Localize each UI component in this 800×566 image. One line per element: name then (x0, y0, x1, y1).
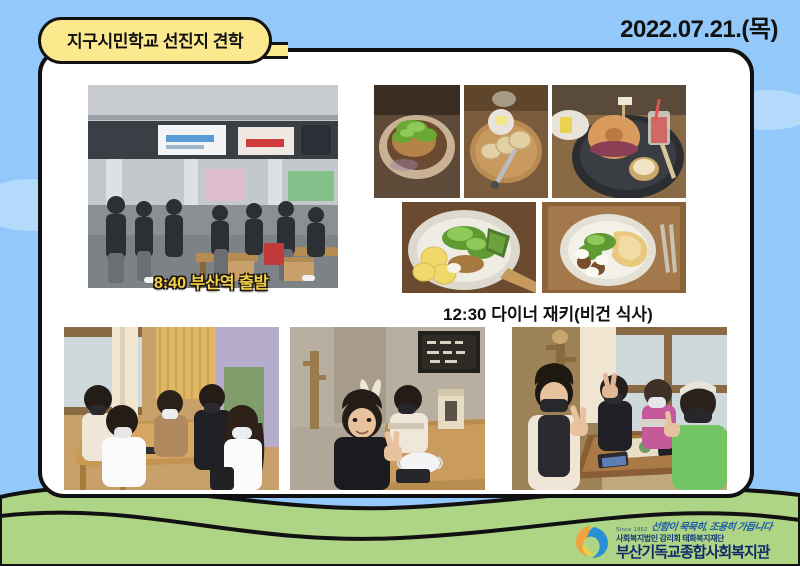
photo-group-3-image (512, 327, 727, 490)
logo-center-name: 부산기독교종합사회복지관 (616, 545, 772, 560)
title-badge: 지구시민학교 선진지 견학 (38, 17, 272, 64)
photo-group-1 (64, 327, 279, 490)
photo-food-5-image (542, 202, 686, 293)
photo-group-2-image (290, 327, 485, 490)
logo-since: Since 1952 (616, 528, 648, 534)
logo-foundation: 사회복지법인 감리회 태화복지재단 (616, 535, 772, 543)
slide-date: 2022.07.21.(목) (620, 9, 778, 44)
logo-slogan: 선함이 묵묵히, 조용히 가듭니다 (651, 523, 773, 533)
photo-food-3-image (552, 85, 686, 198)
photo-food-1-image (374, 85, 460, 198)
photo-food-3 (552, 85, 686, 198)
caption-lunch: 12:30 다이너 재키(비건 식사) (443, 300, 653, 325)
photo-food-1 (374, 85, 460, 198)
photo-food-2-image (464, 85, 548, 198)
photo-busan-station-image (88, 85, 338, 288)
organization-logo: Since 1952 선함이 묵묵히, 조용히 가듭니다 사회복지법인 감리회 … (574, 523, 772, 560)
swirl-logo-icon (574, 524, 610, 560)
photo-food-2 (464, 85, 548, 198)
photo-food-4-image (402, 202, 536, 293)
photo-busan-station (88, 85, 338, 288)
photo-food-5 (542, 202, 686, 293)
slide-canvas: 지구시민학교 선진지 견학 2022.07.21.(목) (0, 0, 800, 566)
photo-group-1-image (64, 327, 279, 490)
caption-departure: 8:40 부산역 출발 (154, 269, 269, 293)
photo-group-3 (512, 327, 727, 490)
photo-group-2 (290, 327, 485, 490)
photo-food-4 (402, 202, 536, 293)
title-badge-label: 지구시민학교 선진지 견학 (67, 32, 243, 51)
